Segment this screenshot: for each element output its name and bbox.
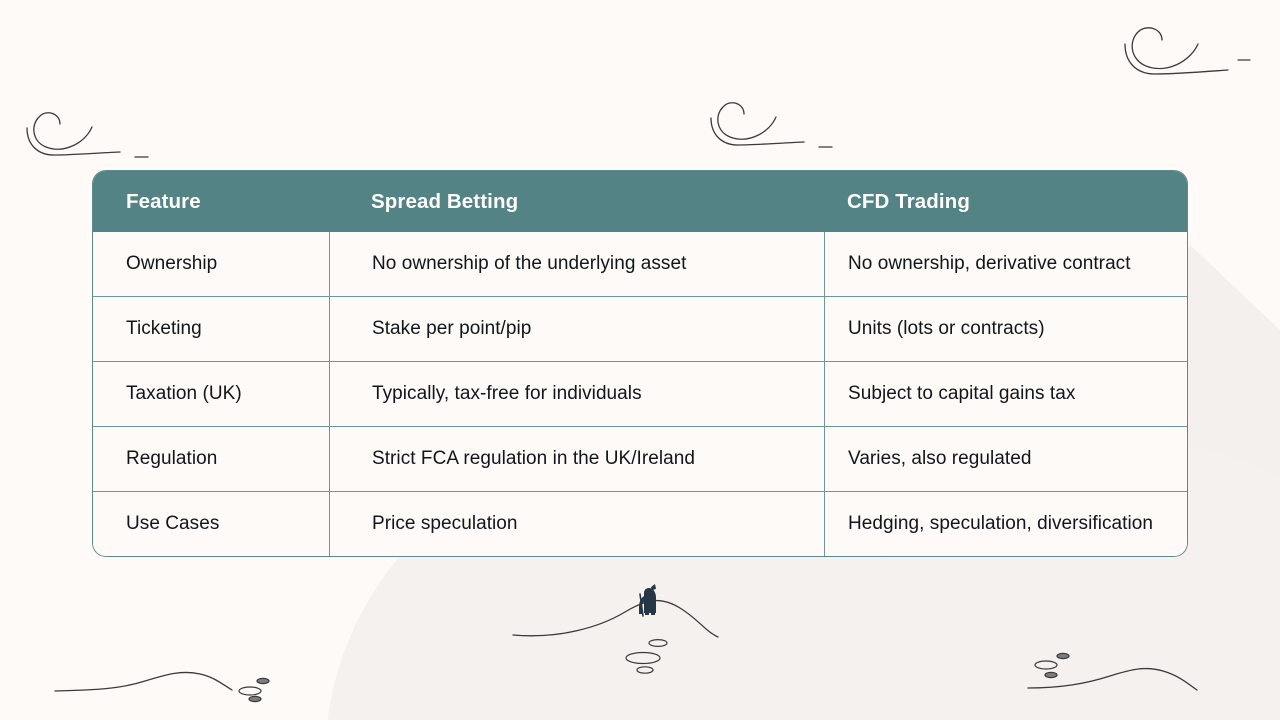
walking-stick [640,594,643,616]
table-body: Ownership No ownership of the underlying… [93,232,1187,556]
table-row: Use Cases Price speculation Hedging, spe… [93,491,1187,556]
pebble-ellipses [257,678,269,683]
table-header: Feature Spread Betting CFD Trading [93,171,1187,232]
cell-spread-betting: Typically, tax-free for individuals [329,361,824,426]
swirl-flourish-top-right [1125,28,1250,74]
cell-feature: Use Cases [93,491,329,556]
table-row: Ticketing Stake per point/pip Units (lot… [93,296,1187,361]
pebble-ellipses [1057,653,1069,658]
pebble-ellipses [649,640,667,647]
pebble-ellipses [1035,661,1057,669]
cell-feature: Ownership [93,232,329,296]
cell-spread-betting: Strict FCA regulation in the UK/Ireland [329,426,824,491]
pebble-ellipses [249,696,261,701]
column-header-cfd-trading: CFD Trading [824,171,1187,232]
pebble-ellipses [637,667,653,673]
cell-spread-betting: Stake per point/pip [329,296,824,361]
swirl-flourish-center [711,103,832,147]
comparison-table: Feature Spread Betting CFD Trading Owner… [93,171,1187,556]
cell-feature: Regulation [93,426,329,491]
table-row: Regulation Strict FCA regulation in the … [93,426,1187,491]
hill-with-figure-illustration [513,584,718,673]
table-header-row: Feature Spread Betting CFD Trading [93,171,1187,232]
cell-feature: Taxation (UK) [93,361,329,426]
pebble-ellipses [1045,672,1057,677]
table-row: Ownership No ownership of the underlying… [93,232,1187,296]
cell-cfd-trading: Units (lots or contracts) [824,296,1187,361]
figure-silhouette [639,584,656,615]
cell-cfd-trading: Subject to capital gains tax [824,361,1187,426]
column-header-spread-betting: Spread Betting [329,171,824,232]
table-row: Taxation (UK) Typically, tax-free for in… [93,361,1187,426]
wave-line-bottom-right [1028,653,1197,690]
hill-line [513,601,718,637]
column-header-feature: Feature [93,171,329,232]
cell-feature: Ticketing [93,296,329,361]
cell-cfd-trading: Hedging, speculation, diversification [824,491,1187,556]
cell-cfd-trading: Varies, also regulated [824,426,1187,491]
pebble-ellipses [626,653,660,664]
cell-cfd-trading: No ownership, derivative contract [824,232,1187,296]
pebble-ellipses [239,687,261,695]
swirl-flourish-left [27,113,148,157]
wave-line-bottom-left [55,672,269,701]
cell-spread-betting: No ownership of the underlying asset [329,232,824,296]
cell-spread-betting: Price speculation [329,491,824,556]
